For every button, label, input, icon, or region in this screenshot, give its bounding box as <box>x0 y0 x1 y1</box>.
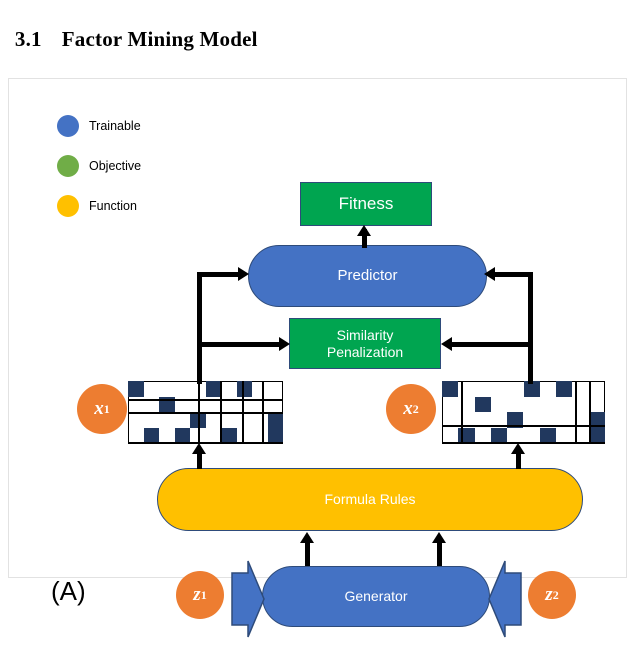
connector-x1-to-predictor-horizontal <box>197 272 241 277</box>
factor-matrix-x2 <box>442 381 605 443</box>
arrowhead-left-predictor <box>484 267 495 281</box>
variable-z1-sub: 1 <box>201 588 207 603</box>
matrix-cell-filled <box>268 412 284 428</box>
matrix-cell-filled <box>175 428 191 444</box>
matrix-cell-filled <box>221 428 237 444</box>
arrowhead-left-similarity <box>441 337 452 351</box>
legend-label-trainable: Trainable <box>89 119 141 133</box>
matrix-gridline-vertical <box>575 381 577 443</box>
section-title: Factor Mining Model <box>62 27 258 51</box>
node-similarity-penalization[interactable]: Similarity Penalization <box>289 318 441 369</box>
matrix-cell-filled <box>475 397 491 413</box>
arrowhead-up-x1 <box>192 443 206 454</box>
matrix-gridline-vertical <box>198 381 200 443</box>
variable-z2-sub: 2 <box>553 588 559 603</box>
connector-x2-to-predictor-horizontal <box>493 272 533 277</box>
variable-x1-base: x <box>94 398 104 420</box>
connector-generator-to-formula-right <box>437 540 442 566</box>
matrix-cell-filled <box>556 381 572 397</box>
matrix-cell-filled <box>268 428 284 444</box>
node-similarity-line1: Similarity <box>337 327 394 343</box>
matrix-cell-filled <box>491 428 507 444</box>
arrowhead-up-formula-right <box>432 532 446 543</box>
legend-item-function: Function <box>57 191 141 221</box>
variable-x2: x2 <box>386 384 436 434</box>
arrowhead-right-similarity <box>279 337 290 351</box>
matrix-gridline-horizontal <box>128 399 283 401</box>
matrix-gridline-vertical <box>220 381 222 443</box>
matrix-cell-filled <box>237 381 253 397</box>
figure-panel-a: Trainable Objective Function Fitness Pre… <box>8 78 627 578</box>
matrix-gridline-horizontal <box>442 425 605 427</box>
matrix-cell-filled <box>442 381 458 397</box>
node-generator[interactable]: Generator <box>262 566 490 627</box>
matrix-gridline-vertical <box>262 381 264 443</box>
variable-x1: x1 <box>77 384 127 434</box>
matrix-cell-filled <box>144 428 160 444</box>
node-similarity-line2: Penalization <box>327 344 403 360</box>
matrix-cell-filled <box>206 381 222 397</box>
panel-label: (A) <box>51 576 86 607</box>
chevron-right-icon-z1 <box>226 553 268 645</box>
connector-x1-to-similarity-horizontal <box>197 342 282 347</box>
arrowhead-right-predictor <box>238 267 249 281</box>
variable-z1-base: z <box>193 584 200 606</box>
variable-x2-sub: 2 <box>413 402 419 417</box>
variable-x1-sub: 1 <box>104 402 110 417</box>
variable-z2: z2 <box>528 571 576 619</box>
circle-icon <box>57 115 79 137</box>
section-number: 3.1 <box>15 27 42 51</box>
factor-matrix-x1 <box>128 381 283 443</box>
variable-x2-base: x <box>403 398 413 420</box>
chevron-left-icon-z2 <box>485 553 527 645</box>
section-heading: 3.1Factor Mining Model <box>4 2 258 52</box>
legend-label-objective: Objective <box>89 159 141 173</box>
arrowhead-up-formula-left <box>300 532 314 543</box>
node-fitness[interactable]: Fitness <box>300 182 432 226</box>
circle-icon <box>57 195 79 217</box>
matrix-cell-filled <box>540 428 556 444</box>
connector-generator-to-formula-left <box>305 540 310 566</box>
connector-x1-trunk-vertical <box>197 272 202 384</box>
matrix-gridline-vertical <box>461 381 463 443</box>
connector-x2-to-similarity-horizontal <box>450 342 533 347</box>
circle-icon <box>57 155 79 177</box>
variable-z2-base: z <box>545 584 552 606</box>
legend: Trainable Objective Function <box>57 111 141 231</box>
matrix-gridline-vertical <box>589 381 591 443</box>
legend-item-objective: Objective <box>57 151 141 181</box>
variable-z1: z1 <box>176 571 224 619</box>
connector-x2-trunk-vertical <box>528 272 533 384</box>
arrowhead-up-fitness <box>357 225 371 236</box>
node-predictor[interactable]: Predictor <box>248 245 487 307</box>
legend-label-function: Function <box>89 199 137 213</box>
matrix-cell-filled <box>128 381 144 397</box>
matrix-gridline-horizontal <box>128 412 283 414</box>
node-formula-rules[interactable]: Formula Rules <box>157 468 583 531</box>
matrix-gridline-vertical <box>242 381 244 443</box>
arrowhead-up-x2 <box>511 443 525 454</box>
legend-item-trainable: Trainable <box>57 111 141 141</box>
